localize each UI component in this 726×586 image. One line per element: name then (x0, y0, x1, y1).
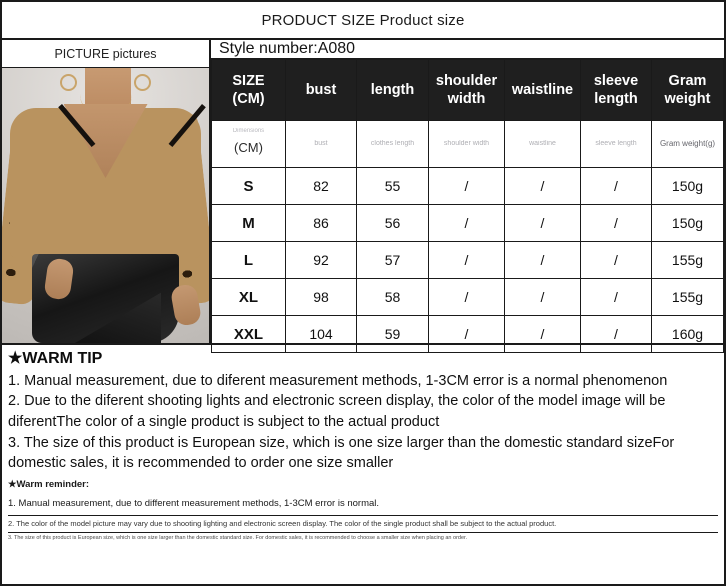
hoop-earring-right-icon (134, 74, 151, 91)
warm-reminder-item-2: 2. The color of the model picture may va… (8, 516, 718, 532)
subheader-shoulder-width: shoulder width (429, 121, 505, 168)
skirt-wrap-panel (75, 273, 161, 343)
cell-length: 58 (357, 279, 429, 316)
cell-gram-weight: 150g (652, 205, 724, 242)
cell-gram-weight: 160g (652, 316, 724, 353)
cell-length: 56 (357, 205, 429, 242)
cell-length: 57 (357, 242, 429, 279)
cell-shoulder-width: / (429, 205, 505, 242)
table-row: XL 98 58 / / / 155g (212, 279, 724, 316)
cell-size: XL (212, 279, 286, 316)
cell-bust: 86 (286, 205, 357, 242)
cell-size: L (212, 242, 286, 279)
cell-bust: 104 (286, 316, 357, 353)
cell-waistline: / (505, 279, 581, 316)
cell-size: S (212, 168, 286, 205)
subheader-clothes-length: clothes length (357, 121, 429, 168)
page-title-row: PRODUCT SIZE Product size (2, 2, 724, 40)
picture-caption: PICTURE pictures (2, 40, 209, 68)
cell-bust: 92 (286, 242, 357, 279)
table-row: L 92 57 / / / 155g (212, 242, 724, 279)
size-table-header: SIZE (CM) bust length shoulder width (212, 60, 724, 121)
cell-waistline: / (505, 316, 581, 353)
subheader-size: Dimensions (CM) (212, 121, 286, 168)
warm-tip-item-2: 2. Due to the diferent shooting lights a… (8, 391, 718, 432)
picture-column: PICTURE pictures (2, 40, 211, 343)
cell-gram-weight: 150g (652, 168, 724, 205)
warm-tip-item-3: 3. The size of this product is European … (8, 433, 718, 474)
table-row: XXL 104 59 / / / 160g (212, 316, 724, 353)
size-table-body: Dimensions (CM) bust clothes length shou… (212, 121, 724, 353)
warm-tip-item-1: 1. Manual measurement, due to diferent m… (8, 371, 718, 392)
cell-bust: 82 (286, 168, 357, 205)
product-photo (2, 68, 209, 343)
column-header-length: length (357, 60, 429, 121)
cell-sleeve-length: / (581, 205, 652, 242)
cell-shoulder-width: / (429, 316, 505, 353)
hoop-earring-left-icon (60, 74, 77, 91)
cell-shoulder-width: / (429, 168, 505, 205)
product-photo-illustration (2, 68, 209, 343)
column-header-waistline: waistline (505, 60, 581, 121)
cell-sleeve-length: / (581, 279, 652, 316)
warm-reminder-item-3: 3. The size of this product is European … (8, 533, 718, 544)
cell-waistline: / (505, 242, 581, 279)
column-header-shoulder-width: shoulder width (429, 60, 505, 121)
cell-sleeve-length: / (581, 316, 652, 353)
size-table-subheader-row: Dimensions (CM) bust clothes length shou… (212, 121, 724, 168)
warm-reminder-heading: ★Warm reminder: (8, 476, 718, 494)
cell-gram-weight: 155g (652, 279, 724, 316)
warm-reminder-section: ★Warm reminder: 1. Manual measurement, d… (2, 474, 724, 545)
cell-shoulder-width: / (429, 242, 505, 279)
cell-waistline: / (505, 168, 581, 205)
subheader-gram-weight: Gram weight(g) (652, 121, 724, 168)
table-row: M 86 56 / / / 150g (212, 205, 724, 242)
cell-bust: 98 (286, 279, 357, 316)
page-title: PRODUCT SIZE Product size (261, 12, 464, 29)
style-number: Style number:A080 (211, 40, 724, 59)
subheader-sleeve-length: sleeve length (581, 121, 652, 168)
warm-tip-section: ★WARM TIP 1. Manual measurement, due to … (2, 345, 724, 474)
cell-length: 59 (357, 316, 429, 353)
column-header-bust: bust (286, 60, 357, 121)
cell-size: XXL (212, 316, 286, 353)
table-column: Style number:A080 SIZE (CM) bust (211, 40, 724, 343)
size-chart-sheet: PRODUCT SIZE Product size PICTURE pictur… (0, 0, 726, 586)
cell-length: 55 (357, 168, 429, 205)
table-row: S 82 55 / / / 150g (212, 168, 724, 205)
column-header-gram-weight: Gram weight (652, 60, 724, 121)
size-table: SIZE (CM) bust length shoulder width (211, 59, 724, 353)
column-header-size: SIZE (CM) (212, 60, 286, 121)
column-header-sleeve-length: sleeve length (581, 60, 652, 121)
cell-waistline: / (505, 205, 581, 242)
cell-shoulder-width: / (429, 279, 505, 316)
main-content-row: PICTURE pictures (2, 40, 724, 345)
subheader-waistline: waistline (505, 121, 581, 168)
subheader-bust: bust (286, 121, 357, 168)
cell-sleeve-length: / (581, 168, 652, 205)
warm-reminder-item-1: 1. Manual measurement, due to different … (8, 494, 718, 514)
cell-size: M (212, 205, 286, 242)
cell-sleeve-length: / (581, 242, 652, 279)
size-table-header-row: SIZE (CM) bust length shoulder width (212, 60, 724, 121)
cell-gram-weight: 155g (652, 242, 724, 279)
